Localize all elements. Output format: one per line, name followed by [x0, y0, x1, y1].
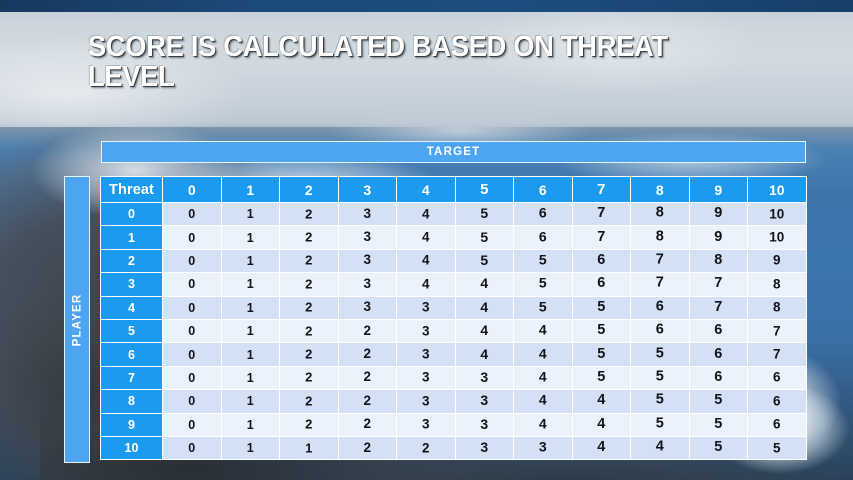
matrix-cell: 5 — [631, 366, 690, 389]
matrix-cell-value: 5 — [539, 298, 547, 314]
matrix-cell: 8 — [631, 203, 690, 226]
matrix-cell: 5 — [631, 343, 690, 366]
matrix-cell: 2 — [280, 366, 339, 389]
matrix-cell: 7 — [748, 343, 807, 366]
matrix-column-header: 3 — [338, 177, 397, 203]
matrix-cell-value: 4 — [480, 275, 488, 291]
matrix-cell: 2 — [280, 249, 339, 272]
matrix-cell: 4 — [514, 343, 573, 366]
matrix-cell: 5 — [514, 296, 573, 319]
matrix-cell-value: 6 — [656, 298, 664, 314]
matrix-cell-value: 4 — [597, 439, 605, 455]
matrix-cell: 1 — [280, 436, 339, 459]
matrix-cell: 6 — [572, 249, 631, 272]
matrix-cell-value: 8 — [656, 228, 664, 244]
matrix-row-header: 8 — [101, 390, 163, 413]
matrix-cell-value: 2 — [305, 347, 312, 362]
matrix-cell-value: 4 — [480, 299, 488, 315]
matrix-column-header: 10 — [748, 177, 807, 203]
matrix-cell: 2 — [397, 436, 456, 459]
table-row: 801223344556 — [101, 390, 807, 413]
matrix-cell-value: 0 — [188, 324, 195, 338]
matrix-cell-value: 5 — [714, 392, 722, 408]
matrix-cell-value: 1 — [247, 324, 254, 338]
matrix-cell-value: 3 — [363, 276, 371, 291]
matrix-cell-value: 1 — [247, 277, 254, 291]
matrix-cell-value: 1 — [247, 301, 254, 315]
player-axis-label-bar: PLAYER — [64, 176, 90, 463]
matrix-column-header: 6 — [514, 177, 573, 203]
matrix-cell: 4 — [631, 436, 690, 459]
matrix-cell: 10 — [748, 226, 807, 249]
matrix-cell-value: 6 — [773, 417, 781, 432]
matrix-cell-value: 2 — [363, 369, 371, 384]
presentation-slide: SCORE IS CALCULATED BASED ON THREAT LEVE… — [0, 0, 853, 480]
matrix-cell: 7 — [631, 273, 690, 296]
matrix-cell: 5 — [572, 319, 631, 342]
matrix-cell: 4 — [514, 413, 573, 436]
matrix-cell-value: 5 — [597, 299, 605, 315]
matrix-cell: 7 — [748, 319, 807, 342]
matrix-cell: 3 — [338, 226, 397, 249]
matrix-cell: 6 — [631, 319, 690, 342]
matrix-cell: 3 — [397, 343, 456, 366]
matrix-cell-value: 2 — [305, 323, 312, 338]
table-row: 401233455678 — [101, 296, 807, 319]
matrix-cell: 4 — [514, 319, 573, 342]
matrix-cell-value: 0 — [188, 418, 195, 432]
table-row: 1001122334455 — [101, 436, 807, 459]
matrix-cell: 2 — [280, 226, 339, 249]
matrix-cell-value: 5 — [539, 251, 547, 267]
matrix-column-header: 4 — [397, 177, 456, 203]
matrix-cell: 4 — [514, 366, 573, 389]
matrix-cell: 6 — [631, 296, 690, 319]
matrix-cell-value: 2 — [363, 393, 371, 408]
matrix-cell: 8 — [748, 273, 807, 296]
matrix-cell: 3 — [397, 366, 456, 389]
matrix-cell-value: 3 — [480, 392, 488, 408]
matrix-cell: 6 — [689, 319, 748, 342]
matrix-cell: 1 — [221, 249, 280, 272]
matrix-cell: 9 — [748, 249, 807, 272]
matrix-row-header: 5 — [101, 319, 163, 342]
matrix-cell-value: 8 — [773, 276, 781, 291]
matrix-cell-value: 4 — [539, 368, 547, 384]
matrix-cell: 5 — [572, 296, 631, 319]
matrix-cell-value: 2 — [422, 440, 430, 455]
matrix-row-header: 0 — [101, 203, 163, 226]
matrix-cell: 6 — [748, 413, 807, 436]
matrix-row-header: 10 — [101, 436, 163, 459]
matrix-cell-value: 4 — [597, 416, 605, 432]
matrix-cell-value: 0 — [188, 301, 195, 315]
matrix-cell: 4 — [455, 273, 514, 296]
matrix-cell-value: 0 — [188, 231, 195, 245]
matrix-cell: 5 — [631, 413, 690, 436]
matrix-cell-value: 7 — [656, 275, 664, 291]
matrix-cell: 6 — [748, 366, 807, 389]
matrix-cell: 0 — [163, 390, 222, 413]
matrix-cell-value: 5 — [597, 369, 605, 385]
matrix-cell: 3 — [514, 436, 573, 459]
matrix-cell-value: 6 — [714, 322, 722, 338]
matrix-cell-value: 10 — [769, 206, 784, 221]
matrix-cell: 3 — [338, 203, 397, 226]
matrix-cell: 6 — [572, 273, 631, 296]
matrix-cell: 6 — [689, 366, 748, 389]
matrix-cell-value: 0 — [188, 441, 195, 455]
matrix-cell-value: 3 — [422, 323, 430, 338]
matrix-column-header: 9 — [689, 177, 748, 203]
matrix-cell-value: 4 — [422, 206, 430, 221]
score-matrix-table: Threat 012345678910 00123456789101012345… — [100, 176, 807, 460]
matrix-cell: 0 — [163, 343, 222, 366]
matrix-cell: 2 — [280, 296, 339, 319]
matrix-cell-value: 0 — [188, 371, 195, 385]
matrix-cell: 4 — [455, 296, 514, 319]
matrix-cell: 5 — [689, 390, 748, 413]
matrix-cell-value: 10 — [769, 230, 784, 245]
matrix-cell: 2 — [280, 273, 339, 296]
matrix-cell: 2 — [280, 319, 339, 342]
matrix-cell: 2 — [280, 203, 339, 226]
matrix-cell: 2 — [280, 390, 339, 413]
matrix-cell-value: 1 — [247, 254, 254, 268]
matrix-cell-value: 9 — [714, 205, 722, 221]
matrix-cell: 5 — [455, 226, 514, 249]
matrix-cell: 0 — [163, 366, 222, 389]
matrix-cell-value: 6 — [773, 393, 781, 408]
matrix-row-header: 6 — [101, 343, 163, 366]
matrix-cell-value: 5 — [656, 392, 664, 408]
matrix-cell: 3 — [397, 390, 456, 413]
matrix-cell: 5 — [689, 436, 748, 459]
matrix-cell-value: 6 — [539, 228, 547, 244]
matrix-cell-value: 3 — [422, 370, 430, 385]
matrix-cell: 5 — [514, 249, 573, 272]
matrix-cell-value: 3 — [422, 417, 430, 432]
matrix-cell-value: 1 — [247, 418, 254, 432]
matrix-cell-value: 5 — [480, 252, 488, 268]
matrix-cell-value: 2 — [305, 417, 312, 432]
matrix-cell: 0 — [163, 319, 222, 342]
matrix-cell-value: 3 — [363, 229, 371, 244]
matrix-cell: 3 — [455, 390, 514, 413]
matrix-cell-value: 8 — [773, 300, 781, 315]
matrix-cell: 1 — [221, 436, 280, 459]
matrix-cell: 7 — [631, 249, 690, 272]
matrix-cell: 4 — [397, 249, 456, 272]
target-axis-label-bar: TARGET — [101, 141, 806, 163]
matrix-column-header: 5 — [455, 177, 514, 203]
matrix-cell: 4 — [572, 390, 631, 413]
matrix-cell: 0 — [163, 226, 222, 249]
top-sky-strip — [0, 0, 853, 12]
matrix-cell-value: 3 — [363, 206, 371, 221]
matrix-cell: 2 — [338, 436, 397, 459]
matrix-cell-value: 7 — [597, 229, 605, 245]
matrix-cell: 7 — [689, 296, 748, 319]
table-row: 601223445567 — [101, 343, 807, 366]
matrix-cell: 6 — [689, 343, 748, 366]
matrix-cell: 8 — [748, 296, 807, 319]
matrix-cell-value: 2 — [363, 440, 371, 455]
matrix-cell: 1 — [221, 203, 280, 226]
matrix-cell: 1 — [221, 366, 280, 389]
matrix-column-header: 2 — [280, 177, 339, 203]
matrix-cell-value: 4 — [422, 276, 430, 291]
matrix-cell: 4 — [572, 436, 631, 459]
matrix-row-header: 4 — [101, 296, 163, 319]
matrix-cell: 0 — [163, 436, 222, 459]
matrix-cell-value: 6 — [656, 322, 664, 338]
matrix-cell-value: 2 — [305, 206, 312, 221]
matrix-cell: 5 — [455, 203, 514, 226]
matrix-cell-value: 1 — [305, 440, 312, 455]
matrix-cell: 4 — [572, 413, 631, 436]
matrix-cell-value: 8 — [714, 252, 722, 268]
matrix-cell: 0 — [163, 296, 222, 319]
matrix-cell: 0 — [163, 203, 222, 226]
matrix-cell-value: 4 — [539, 415, 547, 431]
table-row: 1012345678910 — [101, 226, 807, 249]
matrix-cell-value: 2 — [363, 323, 371, 338]
matrix-cell: 3 — [455, 413, 514, 436]
player-axis-label-text: PLAYER — [71, 293, 83, 346]
matrix-cell-value: 9 — [773, 253, 781, 268]
matrix-cell-value: 2 — [363, 346, 371, 361]
matrix-cell: 1 — [221, 296, 280, 319]
matrix-cell: 5 — [572, 366, 631, 389]
matrix-cell-value: 5 — [480, 205, 488, 221]
matrix-cell-value: 1 — [247, 231, 254, 245]
matrix-cell: 5 — [514, 273, 573, 296]
matrix-cell: 1 — [221, 343, 280, 366]
matrix-cell-value: 2 — [363, 416, 371, 431]
matrix-cell: 2 — [280, 413, 339, 436]
matrix-cell-value: 3 — [480, 416, 488, 432]
table-row: 901223344556 — [101, 413, 807, 436]
matrix-cell-value: 6 — [773, 370, 781, 385]
table-row: 301234456778 — [101, 273, 807, 296]
matrix-cell: 2 — [338, 413, 397, 436]
matrix-cell: 9 — [689, 226, 748, 249]
matrix-cell: 3 — [455, 436, 514, 459]
target-axis-label-text: TARGET — [427, 146, 481, 158]
matrix-cell: 0 — [163, 413, 222, 436]
matrix-cell-value: 7 — [773, 347, 781, 362]
table-row: 0012345678910 — [101, 203, 807, 226]
matrix-cell: 4 — [397, 273, 456, 296]
matrix-cell: 2 — [280, 343, 339, 366]
matrix-cell-value: 1 — [247, 371, 254, 385]
matrix-cell: 4 — [397, 203, 456, 226]
matrix-cell-value: 5 — [480, 229, 488, 245]
matrix-body: 0012345678910101234567891020123455678930… — [101, 203, 807, 460]
matrix-cell: 1 — [221, 226, 280, 249]
matrix-cell: 5 — [689, 413, 748, 436]
matrix-cell-value: 7 — [773, 323, 781, 338]
matrix-cell-value: 0 — [188, 254, 195, 268]
matrix-cell-value: 3 — [363, 299, 371, 314]
matrix-cell: 0 — [163, 273, 222, 296]
matrix-cell: 1 — [221, 413, 280, 436]
table-row: 701223345566 — [101, 366, 807, 389]
matrix-cell: 7 — [572, 203, 631, 226]
matrix-cell: 5 — [455, 249, 514, 272]
matrix-cell: 3 — [397, 319, 456, 342]
matrix-cell-value: 7 — [656, 251, 664, 267]
matrix-cell: 4 — [514, 390, 573, 413]
matrix-cell-value: 2 — [305, 393, 312, 408]
matrix-cell-value: 1 — [247, 207, 254, 221]
matrix-cell-value: 4 — [422, 230, 430, 245]
matrix-column-header: 8 — [631, 177, 690, 203]
matrix-cell: 4 — [397, 226, 456, 249]
matrix-cell-value: 3 — [480, 369, 488, 385]
matrix-cell: 0 — [163, 249, 222, 272]
matrix-header: Threat 012345678910 — [101, 177, 807, 203]
matrix-cell-value: 2 — [305, 300, 312, 315]
matrix-cell-value: 1 — [247, 441, 254, 455]
matrix-row-header: 9 — [101, 413, 163, 436]
matrix-cell-value: 2 — [305, 253, 312, 268]
matrix-header-row: Threat 012345678910 — [101, 177, 807, 203]
matrix-cell-value: 4 — [656, 439, 664, 455]
matrix-cell-value: 5 — [539, 275, 547, 291]
matrix-cell-value: 5 — [714, 416, 722, 432]
matrix-cell-value: 4 — [539, 345, 547, 361]
matrix-cell-value: 7 — [597, 205, 605, 221]
matrix-cell-value: 4 — [480, 346, 488, 362]
matrix-cell-value: 6 — [714, 369, 722, 385]
matrix-cell: 1 — [221, 390, 280, 413]
matrix-cell: 3 — [338, 249, 397, 272]
matrix-cell: 5 — [631, 390, 690, 413]
matrix-row-header: 3 — [101, 273, 163, 296]
matrix-cell-value: 0 — [188, 277, 195, 291]
matrix-cell: 6 — [514, 226, 573, 249]
matrix-cell-value: 2 — [305, 230, 312, 245]
matrix-cell-value: 3 — [539, 439, 547, 455]
matrix-cell-value: 1 — [247, 348, 254, 362]
matrix-cell-value: 4 — [597, 392, 605, 408]
matrix-cell-value: 0 — [188, 207, 195, 221]
matrix-cell-value: 3 — [480, 439, 488, 455]
matrix-cell-value: 8 — [656, 205, 664, 221]
table-row: 201234556789 — [101, 249, 807, 272]
matrix-cell-value: 6 — [539, 205, 547, 221]
matrix-cell: 7 — [572, 226, 631, 249]
matrix-row-header: 2 — [101, 249, 163, 272]
matrix-cell-value: 9 — [714, 229, 722, 245]
matrix-cell: 9 — [689, 203, 748, 226]
matrix-cell-value: 3 — [422, 300, 430, 315]
matrix-column-header: 0 — [163, 177, 222, 203]
matrix-cell-value: 4 — [539, 322, 547, 338]
matrix-cell-value: 5 — [656, 415, 664, 431]
matrix-cell-value: 3 — [363, 252, 371, 267]
matrix-cell-value: 7 — [714, 275, 722, 291]
matrix-cell-value: 0 — [188, 394, 195, 408]
matrix-cell-value: 3 — [422, 347, 430, 362]
matrix-cell: 8 — [689, 249, 748, 272]
matrix-cell-value: 2 — [305, 370, 312, 385]
matrix-cell-value: 2 — [305, 276, 312, 291]
matrix-cell: 2 — [338, 319, 397, 342]
matrix-cell: 2 — [338, 366, 397, 389]
matrix-row-header: 1 — [101, 226, 163, 249]
table-row: 501223445667 — [101, 319, 807, 342]
matrix-cell: 3 — [397, 413, 456, 436]
matrix-row-header: 7 — [101, 366, 163, 389]
matrix-cell: 8 — [631, 226, 690, 249]
matrix-column-header: 7 — [572, 177, 631, 203]
matrix-cell-value: 7 — [714, 299, 722, 315]
matrix-cell: 1 — [221, 319, 280, 342]
matrix-cell: 3 — [338, 296, 397, 319]
matrix-cell: 4 — [455, 343, 514, 366]
matrix-cell: 2 — [338, 343, 397, 366]
matrix-cell: 2 — [338, 390, 397, 413]
matrix-cell-value: 3 — [422, 393, 430, 408]
matrix-cell: 6 — [748, 390, 807, 413]
matrix-corner-header: Threat — [101, 177, 163, 203]
matrix-cell: 3 — [397, 296, 456, 319]
matrix-cell-value: 6 — [597, 275, 605, 291]
matrix-cell-value: 1 — [247, 394, 254, 408]
matrix-cell-value: 5 — [597, 322, 605, 338]
matrix-cell: 10 — [748, 203, 807, 226]
matrix-cell: 4 — [455, 319, 514, 342]
page-title: SCORE IS CALCULATED BASED ON THREAT LEVE… — [88, 32, 671, 92]
matrix-cell-value: 5 — [773, 440, 781, 455]
matrix-column-header: 1 — [221, 177, 280, 203]
matrix-cell-value: 4 — [480, 322, 488, 338]
matrix-cell: 6 — [514, 203, 573, 226]
matrix-cell: 5 — [748, 436, 807, 459]
matrix-cell-value: 4 — [422, 253, 430, 268]
matrix-cell: 1 — [221, 273, 280, 296]
matrix-cell-value: 5 — [656, 345, 664, 361]
matrix-cell-value: 0 — [188, 348, 195, 362]
matrix-cell: 3 — [338, 273, 397, 296]
matrix-cell-value: 4 — [539, 392, 547, 408]
matrix-cell-value: 6 — [597, 252, 605, 268]
matrix-cell: 5 — [572, 343, 631, 366]
matrix-cell: 7 — [689, 273, 748, 296]
matrix-cell-value: 5 — [597, 346, 605, 362]
matrix-cell-value: 5 — [656, 368, 664, 384]
matrix-cell: 3 — [455, 366, 514, 389]
matrix-cell-value: 5 — [714, 439, 722, 455]
matrix-cell-value: 6 — [714, 346, 722, 362]
